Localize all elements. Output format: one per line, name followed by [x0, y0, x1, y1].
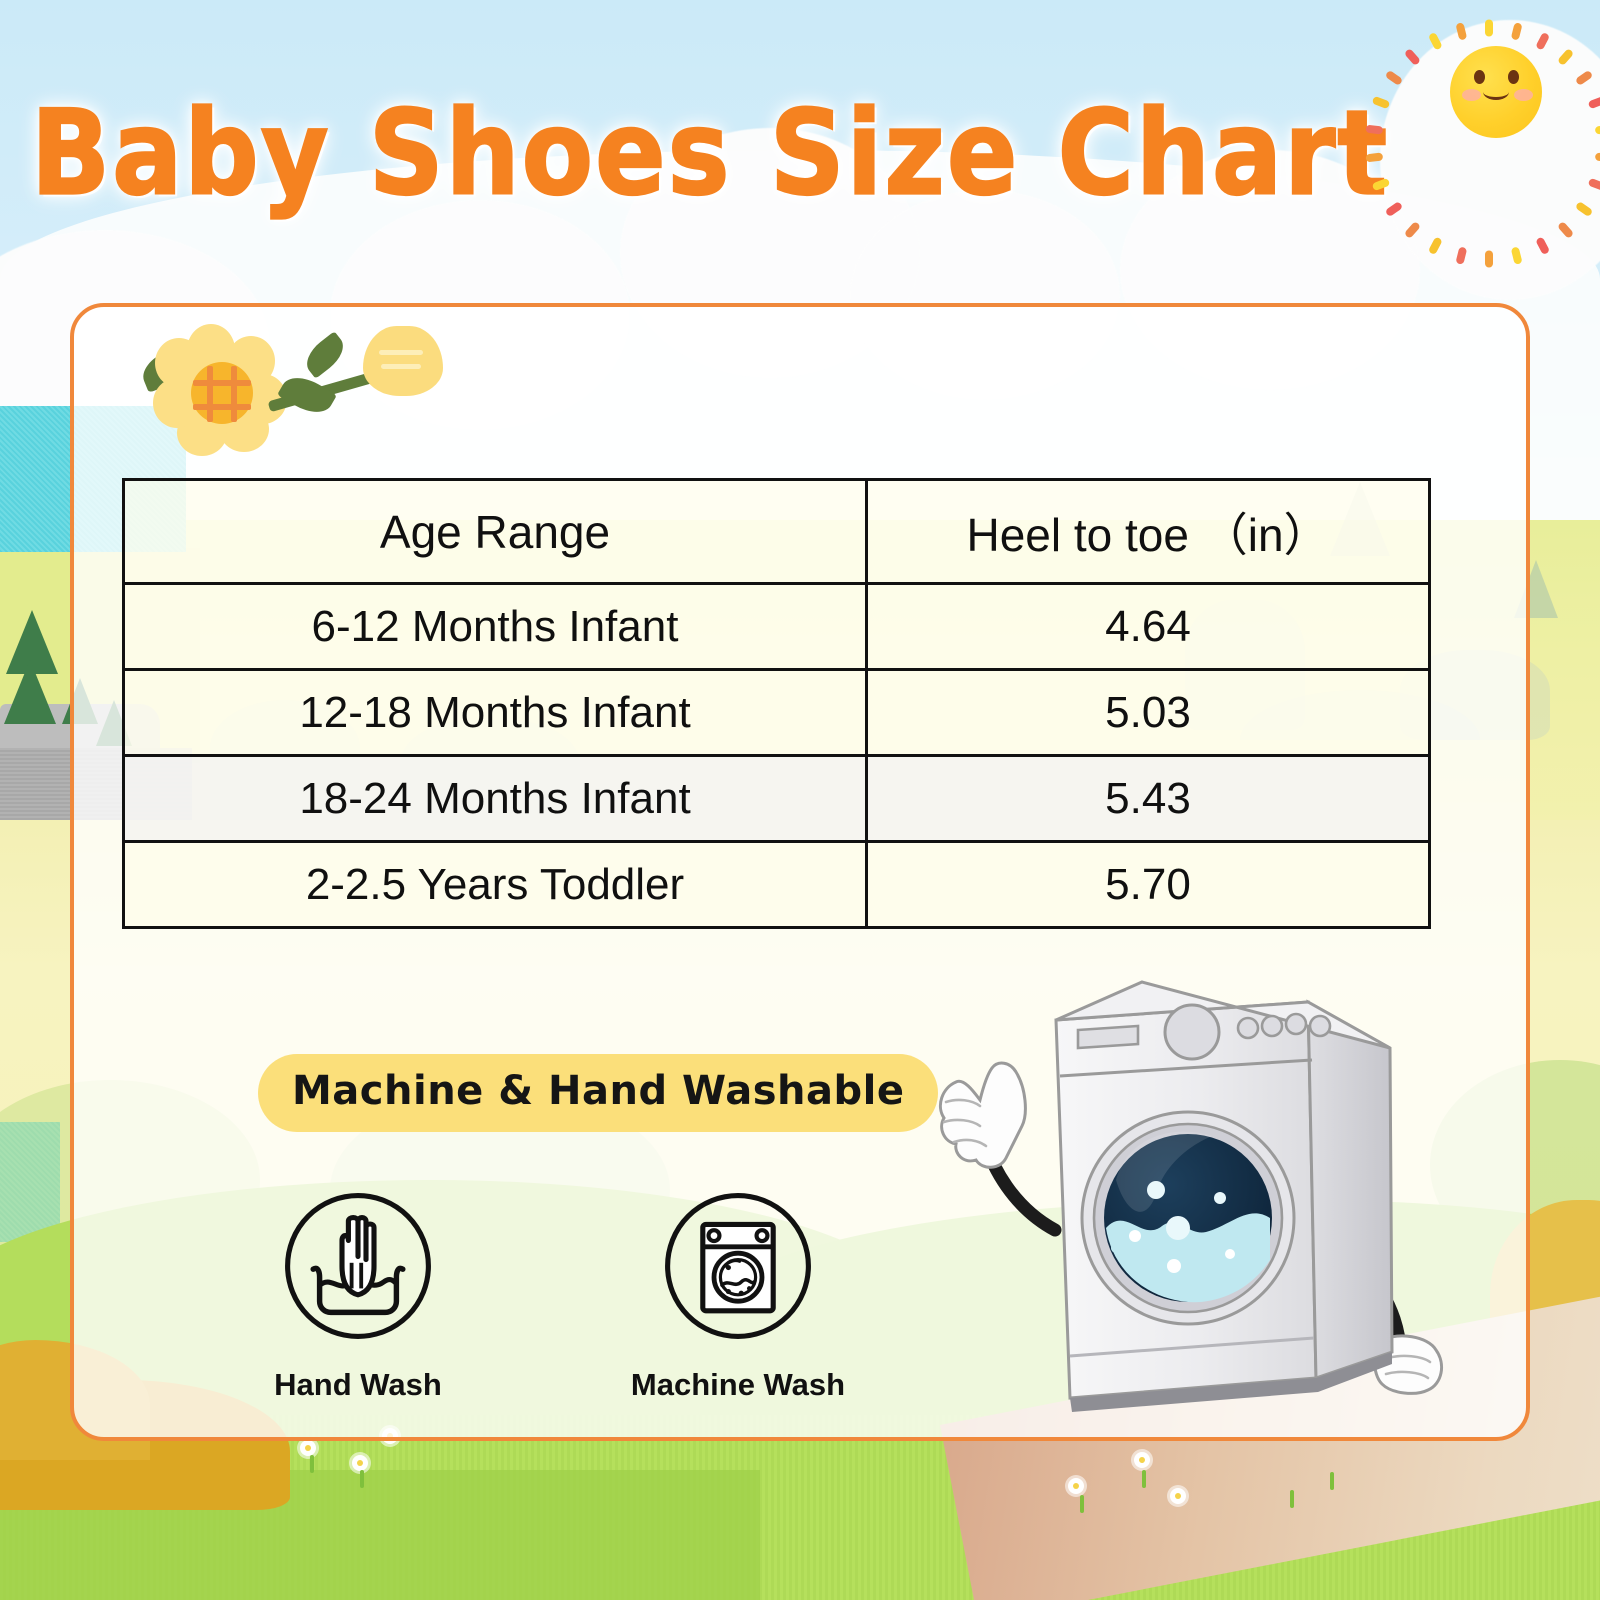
bubble	[1166, 1216, 1190, 1240]
size-chart-table: Age Range Heel to toe （in） 6-12 Months I…	[122, 478, 1431, 929]
yellow-flower-icon	[135, 322, 455, 452]
tree-icon	[4, 660, 56, 724]
sun-ray	[1485, 20, 1493, 37]
page-title: Baby Shoes Size Chart	[0, 85, 1420, 222]
sun-cheek-right	[1514, 89, 1533, 101]
cell-heel-to-toe: 5.70	[867, 842, 1430, 928]
hand-wash-icon	[278, 1186, 438, 1346]
column-header-heel-to-toe: Heel to toe （in）	[867, 480, 1430, 584]
flower-core	[191, 362, 253, 424]
grass-tuft	[1290, 1490, 1294, 1508]
grass-tuft	[1142, 1470, 1146, 1488]
sun-ray	[1535, 32, 1550, 51]
care-symbol-hand-wash: Hand Wash	[238, 1186, 478, 1403]
washing-machine-mascot	[930, 960, 1470, 1420]
sun-ray	[1511, 22, 1523, 40]
bubble	[1225, 1249, 1235, 1259]
core-grid-line	[193, 404, 251, 410]
cell-heel-to-toe: 5.03	[867, 670, 1430, 756]
grass-foreground	[0, 1415, 1600, 1600]
sun-ray	[1428, 32, 1443, 51]
machine-wash-icon	[658, 1186, 818, 1346]
smiling-sun-icon	[1404, 14, 1574, 174]
machine-side-panel	[1308, 1002, 1392, 1378]
care-symbol-label: Hand Wash	[238, 1367, 478, 1403]
grass-tuft	[1330, 1472, 1334, 1490]
sun-ray	[1485, 251, 1493, 268]
core-grid-line	[231, 366, 237, 422]
bubble	[1129, 1230, 1141, 1242]
table-row: 6-12 Months Infant 4.64	[124, 584, 1430, 670]
sun-mouth	[1483, 84, 1509, 100]
grass-tuft	[310, 1455, 314, 1473]
cell-heel-to-toe: 5.43	[867, 756, 1430, 842]
care-symbol-label: Machine Wash	[618, 1367, 858, 1403]
table-row: 12-18 Months Infant 5.03	[124, 670, 1430, 756]
sun-eye-left	[1474, 70, 1485, 84]
table-row: 2-2.5 Years Toddler 5.70	[124, 842, 1430, 928]
washing-machine-illustration	[930, 960, 1470, 1420]
sun-ray	[1404, 48, 1421, 66]
control-button	[1310, 1016, 1330, 1036]
cell-heel-to-toe: 4.64	[867, 584, 1430, 670]
cell-age-range: 2-2.5 Years Toddler	[124, 842, 867, 928]
control-button	[1262, 1016, 1282, 1036]
table-row: 18-24 Months Infant 5.43	[124, 756, 1430, 842]
daisy-icon	[352, 1455, 368, 1471]
core-grid-line	[207, 366, 213, 422]
daisy-icon	[1068, 1478, 1084, 1494]
bubble	[1214, 1192, 1226, 1204]
column-header-age-range: Age Range	[124, 480, 867, 584]
table-header-row: Age Range Heel to toe （in）	[124, 480, 1430, 584]
bud-highlight	[379, 350, 423, 355]
cell-age-range: 18-24 Months Infant	[124, 756, 867, 842]
thumbs-up-hand	[940, 1063, 1025, 1167]
bud-highlight	[381, 364, 421, 369]
bubble	[1167, 1259, 1181, 1273]
care-symbol-machine-wash: Machine Wash	[618, 1186, 858, 1403]
cell-age-range: 12-18 Months Infant	[124, 670, 867, 756]
daisy-icon	[300, 1440, 316, 1456]
cell-age-range: 6-12 Months Infant	[124, 584, 867, 670]
sun-eye-right	[1508, 70, 1519, 84]
control-dial	[1165, 1005, 1219, 1059]
core-grid-line	[193, 380, 251, 386]
grass-tuft	[1080, 1495, 1084, 1513]
control-button	[1286, 1014, 1306, 1034]
sun-cheek-left	[1462, 89, 1481, 101]
poster-canvas: Baby Shoes Size Chart	[0, 0, 1600, 1600]
grass-tuft	[360, 1470, 364, 1488]
washable-badge: Machine & Hand Washable	[258, 1054, 938, 1132]
leaf-shape	[277, 369, 337, 421]
sun-ray	[1557, 48, 1574, 66]
sun-ray	[1595, 125, 1600, 135]
flower-bud-icon	[363, 326, 443, 396]
leaf-shape	[300, 331, 351, 379]
sun-ray	[1455, 22, 1467, 40]
bubble	[1147, 1181, 1165, 1199]
daisy-icon	[1134, 1452, 1150, 1468]
control-button	[1238, 1018, 1258, 1038]
grass-shadow	[0, 1470, 760, 1600]
daisy-icon	[1170, 1488, 1186, 1504]
detergent-drawer	[1078, 1026, 1138, 1048]
